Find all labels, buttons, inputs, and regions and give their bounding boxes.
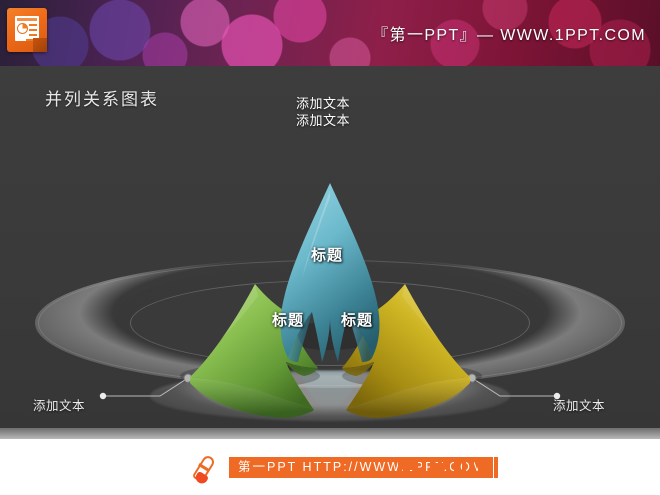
footer-bar-pattern — [398, 457, 502, 478]
site-footer: 第一PPT HTTP://WWW.1PPT.COM — [0, 439, 660, 495]
shape-label-left: 标题 — [272, 309, 304, 330]
slide-canvas: 并列关系图表 — [0, 66, 660, 439]
footer-bar — [446, 457, 450, 478]
footer-bar — [406, 457, 410, 478]
top-callout-line-1: 添加文本 — [296, 95, 350, 112]
footer-bar — [470, 457, 474, 478]
site-header-banner: 『第一PPT』— WWW.1PPT.COM — [0, 0, 660, 66]
side-callout-right: 添加文本 — [553, 395, 605, 414]
slide-bottom-strip — [0, 428, 660, 439]
shape-label-top: 标题 — [311, 244, 343, 265]
footer-bar — [462, 457, 466, 478]
marker-pen-icon — [194, 453, 226, 485]
shape-label-right: 标题 — [341, 309, 373, 330]
footer-bar — [454, 457, 458, 478]
footer-bar — [438, 457, 442, 478]
footer-bar — [430, 457, 434, 478]
footer-bar — [494, 457, 498, 478]
footer-bar — [414, 457, 418, 478]
header-brand-text: 『第一PPT』— WWW.1PPT.COM — [372, 21, 646, 45]
side-callout-left: 添加文本 — [33, 395, 85, 414]
top-callout-text: 添加文本 添加文本 — [296, 95, 350, 129]
top-callout-line-2: 添加文本 — [296, 112, 350, 129]
slide-viewer: 『第一PPT』— WWW.1PPT.COM 并列关系图表 — [0, 0, 660, 495]
footer-bar — [478, 457, 482, 478]
footer-bar — [422, 457, 426, 478]
footer-bar — [486, 457, 490, 478]
powerpoint-document-icon — [7, 8, 51, 56]
footer-bar — [398, 457, 402, 478]
